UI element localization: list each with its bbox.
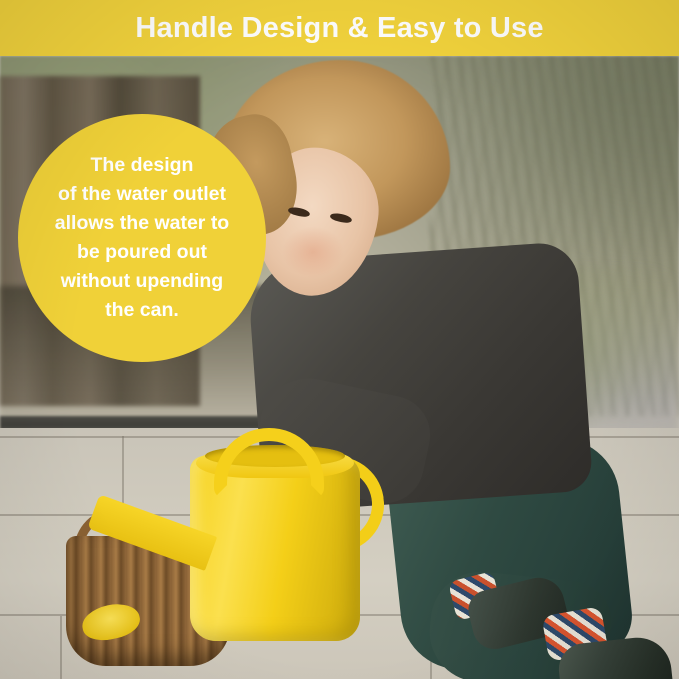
product-image-poster: The design of the water outlet allows th… [0,0,679,679]
feature-callout-text: The design of the water outlet allows th… [43,151,241,324]
feature-callout-circle: The design of the water outlet allows th… [18,114,266,362]
headline-text: Handle Design & Easy to Use [135,12,543,45]
child-cheek [282,226,344,278]
patio-seam [60,616,62,679]
headline-banner: Handle Design & Easy to Use [0,0,679,56]
